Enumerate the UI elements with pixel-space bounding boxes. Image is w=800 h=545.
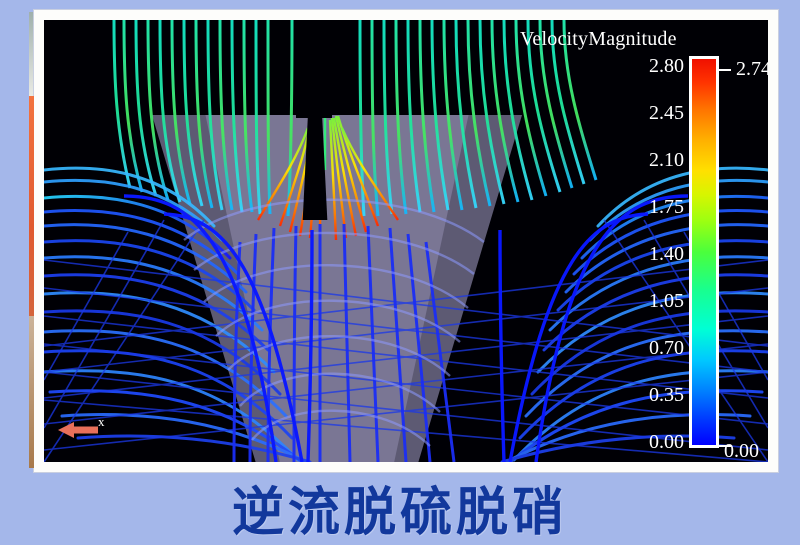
frame-edge-strip-red	[29, 96, 34, 316]
colorbar-range-max-label: 2.74	[736, 58, 768, 81]
colorbar-tick-2: 2.10	[649, 150, 684, 170]
axis-orientation-indicator: x	[52, 410, 122, 454]
colorbar-tick-labels: 2.80 2.45 2.10 1.75 1.40 1.05 0.70 0.35 …	[589, 56, 684, 452]
axis-label-x: x	[98, 414, 105, 430]
colorbar-max-tick	[717, 69, 731, 71]
cone-swirl-streamlines	[184, 200, 484, 446]
colorbar-tick-7: 0.35	[649, 385, 684, 405]
colorbar-tick-3: 1.75	[649, 197, 684, 217]
frame-edge-strip-top	[29, 12, 33, 96]
x-axis-arrow-icon	[52, 410, 122, 454]
colorbar-tick-8: 0.00	[649, 432, 684, 452]
colorbar-tick-0: 2.80	[649, 56, 684, 76]
figure-caption: 逆流脱硫脱硝	[0, 472, 800, 542]
colorbar-tick-4: 1.40	[649, 244, 684, 264]
figure-root: VelocityMagnitude 2.80 2.45 2.10 1.75 1.…	[0, 0, 800, 542]
colorbar-tick-1: 2.45	[649, 103, 684, 123]
colorbar[interactable]	[689, 56, 719, 448]
colorbar-title: VelocityMagnitude	[520, 28, 710, 51]
colorbar-range-min-label: 0.00	[724, 440, 759, 462]
cfd-render-canvas: VelocityMagnitude 2.80 2.45 2.10 1.75 1.…	[44, 20, 768, 462]
colorbar-tick-6: 0.70	[649, 338, 684, 358]
colorbar-tick-5: 1.05	[649, 291, 684, 311]
colorbar-gradient	[692, 59, 716, 445]
frame-edge-strip-tan	[29, 316, 34, 468]
